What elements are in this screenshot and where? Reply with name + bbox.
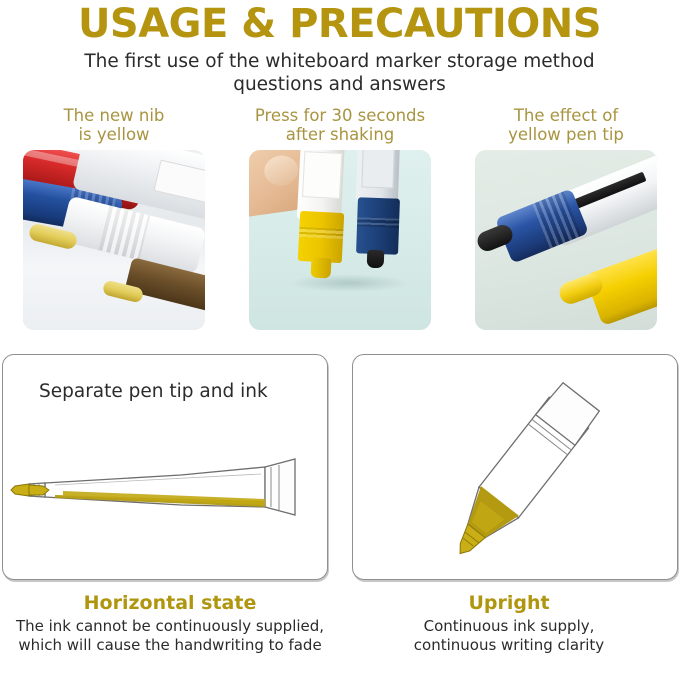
grip-ring <box>299 227 343 239</box>
footer-text-horizontal: The ink cannot be continuously supplied,… <box>0 617 340 655</box>
photo-column-press-shake: Press for 30 seconds after shaking <box>234 106 446 330</box>
panel-horizontal-state: Separate pen tip and ink <box>2 354 328 580</box>
photo-caption-yellow-tip-effect: The effect of yellow pen tip <box>460 106 672 144</box>
diagram-panels: Separate pen tip and ink <box>0 354 679 586</box>
yellow-marker-tip <box>310 257 331 278</box>
photo-column-yellow-tip-effect: The effect of yellow pen tip <box>460 106 672 330</box>
photo-row: The new nib is yellow Press for 30 secon… <box>0 106 679 346</box>
footer-title-upright: Upright <box>339 592 679 615</box>
marker-group <box>440 382 601 569</box>
footer-column-upright: Upright Continuous ink supply, continuou… <box>339 592 679 655</box>
footer-column-horizontal: Horizontal state The ink cannot be conti… <box>0 592 340 655</box>
photo-image-press-shake <box>249 150 431 330</box>
page-subtitle: The first use of the whiteboard marker s… <box>70 50 610 96</box>
photo-column-new-nib: The new nib is yellow <box>8 106 220 330</box>
page-title: USAGE & PRECAUTIONS <box>0 0 679 46</box>
photo-caption-press-shake: Press for 30 seconds after shaking <box>234 106 446 144</box>
yellow-nib <box>11 484 29 496</box>
photo-caption-new-nib: The new nib is yellow <box>8 106 220 144</box>
horizontal-marker-diagram <box>3 355 327 579</box>
grip-ribs <box>98 205 150 260</box>
footer-title-horizontal: Horizontal state <box>0 592 340 615</box>
footer-captions: Horizontal state The ink cannot be conti… <box>0 592 679 666</box>
yellow-marker-head <box>298 211 345 263</box>
blue-marker-tip <box>367 250 385 269</box>
upright-marker-diagram <box>353 355 677 579</box>
marker-shadow <box>289 274 409 292</box>
page-header: USAGE & PRECAUTIONS The first use of the… <box>0 0 679 96</box>
marker-cap <box>265 459 295 515</box>
marker-label <box>302 151 342 199</box>
panel-upright-state <box>352 354 678 580</box>
photo-image-yellow-tip-effect <box>475 150 657 330</box>
grip-ring <box>357 217 399 227</box>
blue-marker-head <box>356 197 400 254</box>
marker-label <box>153 160 205 205</box>
photo-image-new-nib <box>23 150 205 330</box>
footer-text-upright: Continuous ink supply, continuous writin… <box>339 617 679 655</box>
marker-label <box>361 150 394 189</box>
